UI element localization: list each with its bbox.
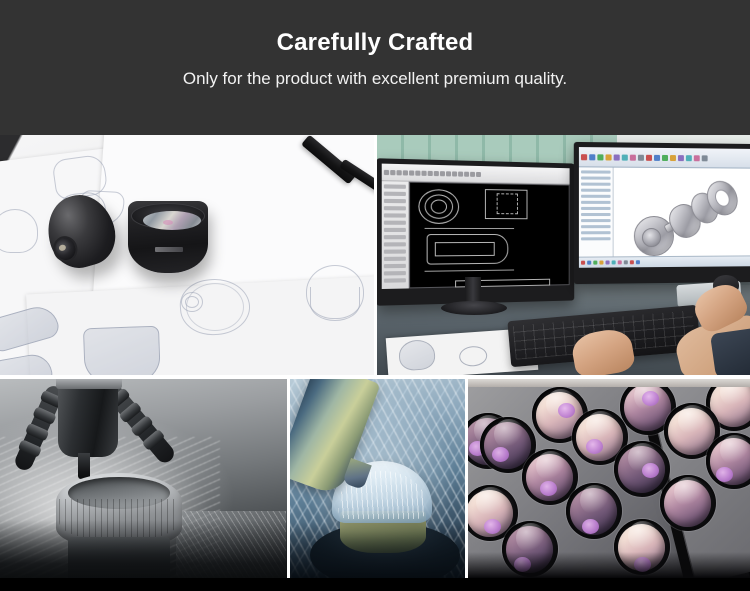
cnc-cutting-tool [78, 453, 90, 479]
cad-tool-palette [382, 181, 409, 289]
cnc-spindle-collar [56, 379, 122, 389]
lens-sheen [586, 411, 616, 441]
lens-coating-highlight [558, 403, 575, 418]
lens-sheen [516, 523, 546, 553]
lens-sheen [628, 521, 658, 551]
product-cylinder-lens-glass [143, 211, 201, 230]
desk-sketch-outline [398, 339, 436, 371]
tray-top-edge [468, 379, 750, 387]
page-title: Carefully Crafted [277, 28, 474, 58]
modeling-status-bar [579, 255, 750, 267]
lens-socket [566, 483, 622, 539]
lens-coating-highlight [642, 463, 659, 478]
monitor-stand [465, 277, 481, 303]
page-subtitle: Only for the product with excellent prem… [183, 67, 567, 91]
gallery-tile-coated-lens-tray[interactable] [468, 379, 750, 582]
pencil-sketch-outline [0, 209, 38, 253]
lens-sheen [476, 487, 506, 517]
lens-sheen [580, 485, 610, 515]
model-viewport [614, 168, 750, 257]
cnc-spindle [58, 379, 118, 457]
gallery-tile-design-sketch[interactable] [0, 135, 374, 375]
modeling-workspace [579, 167, 750, 256]
desk-sketch-outline [459, 345, 488, 367]
product-feature-banner: Carefully Crafted Only for the product w… [0, 0, 750, 591]
cad-workspace [382, 181, 570, 289]
monitor-right [574, 142, 750, 284]
cad-arc [431, 199, 447, 213]
feature-tree-panel [579, 167, 614, 256]
pencil-sketch-shaded [83, 326, 161, 375]
screen-3d-model [579, 147, 750, 268]
banner-header: Carefully Crafted Only for the product w… [0, 0, 750, 135]
engineer-sleeve [710, 328, 750, 375]
product-cylinder-lens [128, 201, 208, 273]
pencil-sketch-outline [185, 296, 199, 308]
grinding-shadow [290, 522, 465, 582]
lens-sheen [720, 435, 750, 465]
lens-coating-highlight [540, 481, 557, 496]
product-brand-engraving [155, 247, 183, 252]
lens-sheen [678, 405, 708, 435]
pencil-sketch-outline [310, 287, 360, 321]
cad-section-view [497, 193, 518, 214]
lens-sheen [494, 419, 524, 449]
lens-coating-highlight [484, 519, 501, 534]
lens-sheen [536, 451, 566, 481]
gallery-tile-lens-grinding[interactable] [290, 379, 465, 582]
cad-drawing-canvas [409, 182, 570, 289]
gallery-tile-cad-workstation[interactable] [377, 135, 750, 375]
lens-socket [660, 475, 716, 531]
lens-sheen [674, 477, 704, 507]
photo-gallery [0, 135, 750, 591]
lens-socket [614, 441, 670, 497]
lens-coating-highlight [492, 447, 509, 462]
screen-cad-drawing [382, 164, 570, 289]
lens-coating-highlight [586, 439, 603, 454]
footer-bar [0, 578, 750, 591]
modeling-toolbar [579, 147, 750, 169]
lens-coating-highlight [716, 467, 733, 482]
lens-coating-highlight [642, 391, 659, 406]
product-cylinder-lens-rim [131, 203, 205, 229]
monitor-base [441, 301, 507, 315]
cad-part-profile [435, 242, 495, 256]
machining-shadow [0, 520, 287, 582]
lens-coating-highlight [582, 519, 599, 534]
gallery-tile-cnc-machining[interactable] [0, 379, 287, 582]
